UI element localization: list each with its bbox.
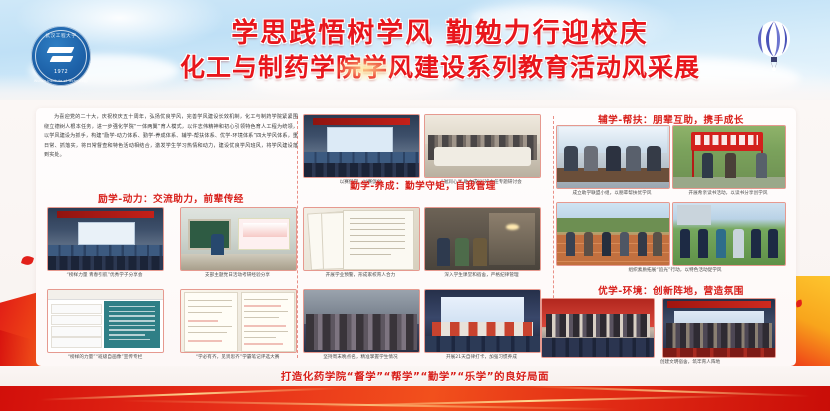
photo-qinxue-3[interactable] [303, 207, 420, 271]
scene-person [584, 232, 593, 257]
title-line-1: 学思践悟树学风 勤勉力行迎校庆 [140, 18, 740, 50]
photo-scene [304, 208, 419, 270]
photo-caption-lixue-4: “学必有齐，见贤思齐”学霸笔记评选大赛 [170, 354, 305, 360]
scene-line [244, 317, 279, 318]
scene-person [768, 229, 778, 258]
scene-trees [557, 218, 669, 232]
scene-ground [673, 177, 785, 188]
scene-person [566, 232, 575, 257]
section-header-fuxue: 辅学-帮扶：朋辈互助，携手成长 [556, 112, 786, 126]
scene-seats [425, 336, 540, 352]
photo-scene [48, 208, 163, 270]
photo-scene [425, 290, 540, 352]
logo-name-en: Wuhan Institute of Technology [31, 79, 91, 83]
scene-person [473, 238, 487, 267]
section-header-qinxue: 勤学-养成：勤学守矩，自我管理 [300, 178, 546, 192]
section-header-lixue: 励学-动力：交流助力，前辈传经 [44, 191, 298, 205]
scene-card [51, 326, 101, 337]
photo-scene [304, 290, 419, 352]
scene-text-line [109, 325, 155, 327]
scene-person [455, 238, 469, 267]
title-line-2: 化工与制药学院学风建设系列教育活动风采展 [140, 52, 740, 83]
scene-text-line [109, 315, 155, 317]
photo-caption-fuxue-3: 组织素质拓展“追光”行动，以特色活动促学风 [590, 267, 760, 273]
photo-scene [673, 126, 785, 188]
scene-person [653, 232, 662, 257]
scene-text-line [109, 306, 155, 308]
scene-audience [48, 256, 163, 270]
photo-lixue-3[interactable] [47, 289, 164, 353]
photo-fuxue-4[interactable] [672, 202, 786, 266]
scene-line [244, 331, 288, 332]
scene-text-line [109, 320, 155, 322]
scene-person [437, 238, 451, 267]
scene-card [51, 315, 101, 326]
scene-person [638, 232, 647, 257]
scene-desk [181, 254, 296, 270]
logo-name-cn: 武汉工程大学 [31, 33, 91, 39]
scene-audience [304, 163, 419, 177]
scene-webpage-header [48, 290, 163, 300]
scene-person [756, 153, 767, 178]
scene-highlight [244, 305, 281, 307]
intro-paragraph: 为喜迎党的二十大，庆祝校庆五十周年，弘扬优良学风，完善学风建设长效机制，化工与制… [44, 113, 298, 161]
scene-person [564, 146, 579, 171]
photo-caption-qinxue-3: 开展学业预警，形成家校育人合力 [298, 272, 423, 278]
scene-building [677, 205, 711, 225]
scene-person [716, 229, 726, 258]
scene-person [725, 153, 736, 178]
photo-scene [663, 299, 775, 357]
photo-scene [557, 203, 669, 265]
scene-person [584, 146, 599, 171]
scene-banner [313, 118, 410, 125]
scene-tent-leg [692, 150, 694, 179]
scene-line [350, 241, 405, 242]
photo-caption-youxue-1: 创建文明宿舍，筑牢育人阵地 [610, 359, 770, 365]
scene-group [666, 323, 771, 349]
scene-line [350, 218, 405, 219]
photo-caption-lixue-1: “榜样力量 青春引航”优秀学子分享会 [47, 272, 162, 278]
scene-person [733, 229, 743, 258]
photo-caption-qinxue-5: 坚持周末晚点名，精准掌握学生情况 [298, 354, 423, 360]
scene-award-row [432, 322, 533, 336]
photo-scene [673, 203, 785, 265]
scene-tent-banner [695, 135, 758, 145]
scene-line [188, 332, 227, 333]
scene-person [680, 229, 690, 258]
photo-lixue-2[interactable] [180, 207, 297, 271]
photo-caption-qinxue-4: 深入学生课堂和宿舍，严格纪律管理 [418, 272, 545, 278]
scene-text-line [109, 311, 155, 313]
photo-qinxue-5[interactable] [303, 289, 420, 353]
scene-person [606, 146, 621, 171]
scene-students [306, 314, 416, 350]
scene-person [647, 146, 662, 171]
scene-line [350, 229, 405, 230]
scene-person [698, 229, 708, 258]
photo-youxue-2[interactable] [662, 298, 776, 358]
photo-qinxue-4[interactable] [424, 207, 541, 271]
footer-red-base [0, 386, 830, 411]
scene-line [350, 235, 405, 236]
poster-title: 学思践悟树学风 勤勉力行迎校庆 化工与制药学院学风建设系列教育活动风采展 [140, 18, 740, 83]
scene-line [244, 337, 276, 338]
photo-scene [542, 299, 654, 357]
scene-text-line [109, 339, 150, 341]
scene-line [350, 223, 405, 224]
scene-panel [104, 301, 159, 348]
photo-qinxue-2[interactable] [424, 114, 541, 178]
photo-scene [181, 208, 296, 270]
scene-sheet [343, 210, 414, 269]
scene-line [188, 326, 232, 327]
scene-card [51, 337, 101, 348]
photo-fuxue-2[interactable] [672, 125, 786, 189]
scene-person [211, 234, 224, 255]
scene-podium [663, 348, 775, 357]
photo-qinxue-6[interactable] [424, 289, 541, 353]
scene-screen [78, 222, 135, 245]
section-header-youxue: 优学-环境：创新阵地，营造氛围 [556, 283, 786, 297]
scene-line [350, 254, 391, 255]
scene-card [51, 304, 101, 315]
photo-caption-qinxue-6: 开展21天自律打卡，加强习惯养成 [418, 354, 545, 360]
scene-bunk-bed [489, 213, 535, 265]
photo-scene [181, 290, 296, 352]
photo-lixue-4[interactable] [180, 289, 297, 353]
photo-caption-lixue-3: “榜样的力量”“班级自画像”宣传专栏 [40, 354, 170, 360]
scene-highlight [188, 320, 218, 322]
photo-scene [48, 290, 163, 352]
scene-line [188, 300, 232, 301]
scene-person [626, 146, 641, 171]
ribbon-decoration [520, 386, 810, 397]
photo-caption-fuxue-2: 开展希亲读书活动，以读书分享创学风 [666, 190, 790, 196]
scene-banner [57, 211, 154, 218]
photo-lixue-1[interactable] [47, 207, 164, 271]
scene-notebook [184, 292, 238, 351]
scene-banner [667, 301, 770, 308]
scene-line [244, 311, 288, 312]
photo-youxue-1[interactable] [541, 298, 655, 358]
photo-scene [425, 115, 540, 177]
photo-qinxue-1[interactable] [303, 114, 420, 178]
logo-year: 1972 [31, 69, 91, 75]
photo-fuxue-1[interactable] [556, 125, 670, 189]
scene-text-line [109, 329, 155, 331]
ribbon-decoration [40, 387, 340, 401]
scene-line [188, 306, 232, 307]
scene-person [702, 153, 713, 178]
photo-fuxue-3[interactable] [556, 202, 670, 266]
photo-scene [425, 208, 540, 270]
hot-air-balloon-icon [756, 20, 792, 72]
scene-blackboard [188, 219, 231, 250]
photo-caption-fuxue-1: 成立助学联盟小组，以朋辈帮扶优学风 [550, 190, 674, 196]
scene-seats [542, 338, 654, 357]
scene-awardees [546, 314, 649, 337]
poster-root: 武汉工程大学 1972 Wuhan Institute of Technolog… [0, 0, 830, 411]
scene-projection-slide [243, 223, 287, 237]
university-logo: 武汉工程大学 1972 Wuhan Institute of Technolog… [31, 26, 91, 86]
scene-person [751, 229, 761, 258]
scene-line [244, 299, 288, 300]
photo-scene [557, 126, 669, 188]
scene-line [350, 248, 405, 249]
scene-highlight [244, 325, 285, 327]
scene-highlight [188, 340, 223, 342]
scene-person [620, 232, 629, 257]
scene-table [434, 147, 531, 166]
scene-line [188, 312, 223, 313]
scene-text-line [109, 334, 145, 336]
photo-caption-lixue-2: 支部主题党日活动考研经验分享 [180, 272, 295, 278]
scene-person [602, 232, 611, 257]
logo-emblem-icon [48, 45, 74, 67]
scene-screen [327, 127, 393, 153]
scene-highlight [244, 343, 283, 345]
footer-slogan: 打造化药学院“督学”“帮学”“勤学”“乐学”的良好局面 [0, 368, 830, 383]
photo-scene [304, 115, 419, 177]
